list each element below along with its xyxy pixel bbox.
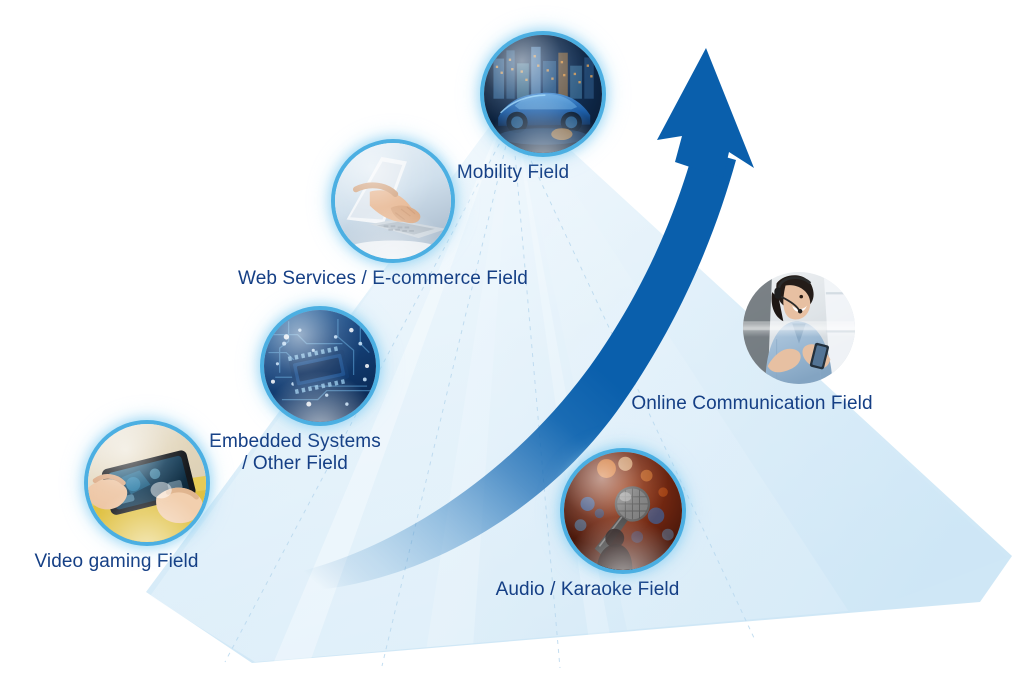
node-video-gaming[interactable]: Video gaming Field — [88, 424, 206, 573]
microphone-stage-photo-icon — [564, 452, 682, 570]
node-online-communication[interactable]: Online Communication Field — [743, 272, 855, 415]
node-embedded-systems[interactable]: Embedded Systems / Other Field — [240, 310, 400, 476]
node-label: Web Services / E-commerce Field — [223, 268, 543, 290]
node-web-services[interactable]: Web Services / E-commerce Field — [253, 143, 533, 290]
headset-woman-photo-icon — [743, 272, 855, 384]
node-audio-karaoke[interactable]: Audio / Karaoke Field — [564, 452, 682, 601]
mobile-game-photo-icon — [88, 424, 206, 542]
node-label: Online Communication Field — [602, 393, 902, 415]
arrow-head — [657, 48, 754, 178]
car-city-photo-icon — [484, 35, 602, 153]
laptop-hands-photo-icon — [335, 143, 451, 259]
circuit-board-photo-icon — [264, 310, 376, 422]
node-label: Audio / Karaoke Field — [458, 579, 718, 601]
diagram-canvas: Mobility Field — [0, 0, 1024, 688]
node-label: Video gaming Field — [0, 551, 237, 573]
